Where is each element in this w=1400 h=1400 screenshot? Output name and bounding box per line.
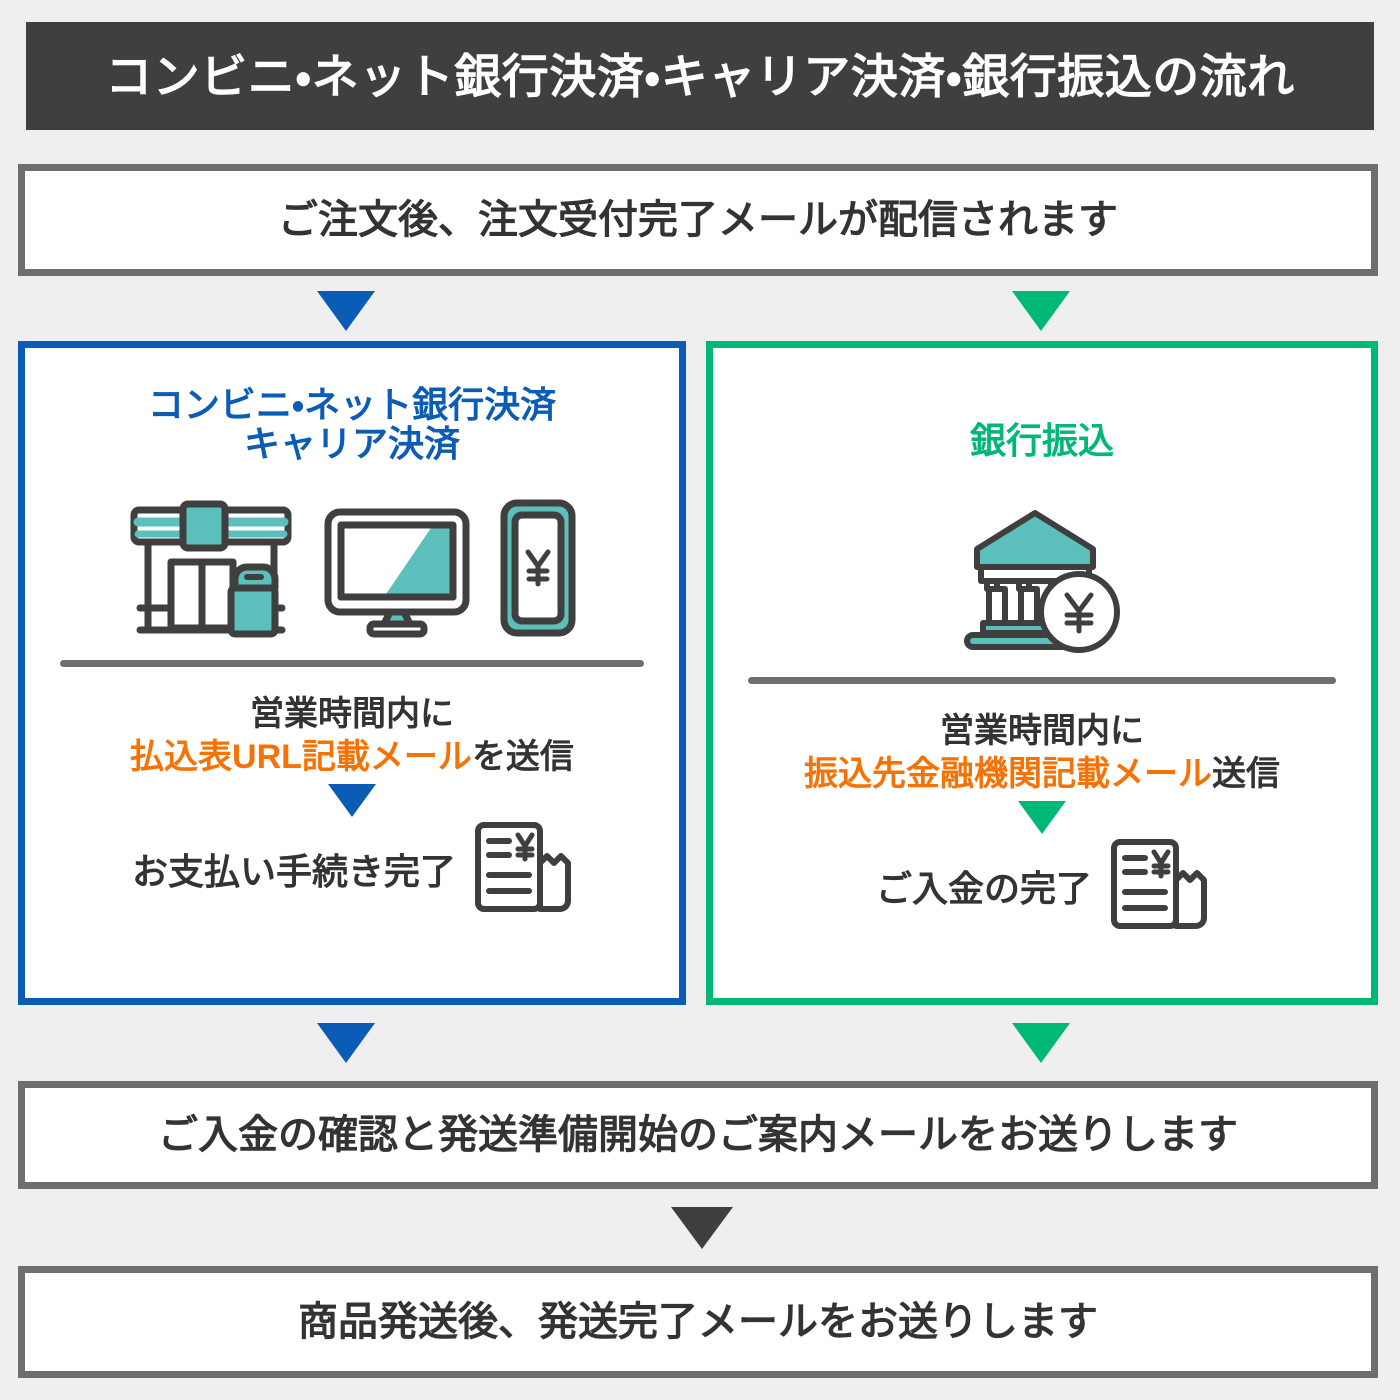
- bank-final-row: ご入金の完了: [713, 836, 1371, 936]
- panel-bank-transfer: 銀行振込: [706, 341, 1378, 1005]
- bank-note-line2: 振込先金融機関記載メール送信: [713, 753, 1371, 797]
- bank-divider: [748, 677, 1336, 684]
- panel-convenience-payment: コンビニ・ネット銀行決済 キャリア決済: [18, 341, 686, 1005]
- step-order-confirmation-mail: ご注文後、注文受付完了メールが配信されます: [18, 164, 1378, 276]
- convenience-store-icon: [126, 500, 296, 638]
- arrow-down-convenience-inner-icon: [328, 784, 376, 817]
- panel-convenience-heading-line2: キャリア決済: [25, 425, 679, 464]
- page-title-bar: コンビニ・ネット銀行決済・キャリア決済・銀行振込の流れ: [26, 22, 1374, 130]
- payment-flow-diagram: コンビニ・ネット銀行決済・キャリア決済・銀行振込の流れ ご注文後、注文受付完了メ…: [0, 0, 1400, 1400]
- receipt-yen-icon: [1104, 836, 1208, 936]
- smartphone-yen-icon: [498, 498, 578, 638]
- arrow-down-to-shipping-icon: [671, 1207, 733, 1249]
- convenience-note-line1: 営業時間内に: [25, 693, 679, 737]
- arrow-down-from-convenience-icon: [317, 1023, 375, 1063]
- convenience-icon-row: [25, 488, 679, 638]
- step-payment-confirmation-mail: ご入金の確認と発送準備開始のご案内メールをお送りします: [18, 1081, 1378, 1189]
- arrow-down-bank-inner-icon: [1018, 801, 1066, 834]
- panel-convenience-heading-line1: コンビニ・ネット銀行決済: [25, 386, 679, 425]
- step-shipping-complete-mail: 商品発送後、発送完了メールをお送りします: [18, 1266, 1378, 1378]
- panel-bank-heading: 銀行振込: [713, 422, 1371, 461]
- bank-note-suffix: 送信: [1212, 755, 1280, 793]
- arrow-down-from-bank-icon: [1012, 1023, 1070, 1063]
- receipt-yen-icon: [468, 819, 572, 919]
- panel-bank-heading-line1: 銀行振込: [713, 422, 1371, 461]
- step-order-confirmation-mail-label: ご注文後、注文受付完了メールが配信されます: [278, 200, 1118, 240]
- bank-note-line1: 営業時間内に: [713, 710, 1371, 754]
- convenience-final-row: お支払い手続き完了: [25, 819, 679, 919]
- bank-final-label: ご入金の完了: [876, 860, 1092, 912]
- bank-icon-row: [713, 505, 1371, 655]
- step-shipping-complete-mail-label: 商品発送後、発送完了メールをお送りします: [298, 1302, 1098, 1342]
- bank-note-highlight: 振込先金融機関記載メール: [804, 755, 1212, 793]
- convenience-note: 営業時間内に 払込表URL記載メールを送信: [25, 693, 679, 780]
- arrow-down-to-convenience-icon: [317, 291, 375, 331]
- desktop-monitor-icon: [322, 506, 472, 638]
- convenience-note-line2: 払込表URL記載メールを送信: [25, 736, 679, 780]
- step-payment-confirmation-mail-label: ご入金の確認と発送準備開始のご案内メールをお送りします: [158, 1115, 1238, 1155]
- convenience-final-label: お支払い手続き完了: [132, 843, 456, 895]
- bank-note: 営業時間内に 振込先金融機関記載メール送信: [713, 710, 1371, 797]
- bank-building-yen-icon: [957, 505, 1127, 655]
- convenience-note-highlight: 払込表URL記載メール: [130, 738, 472, 776]
- panel-convenience-heading: コンビニ・ネット銀行決済 キャリア決済: [25, 386, 679, 464]
- convenience-divider: [60, 660, 644, 667]
- convenience-note-suffix: を送信: [472, 738, 574, 776]
- arrow-down-to-bank-icon: [1012, 291, 1070, 331]
- page-title: コンビニ・ネット銀行決済・キャリア決済・銀行振込の流れ: [105, 53, 1294, 100]
